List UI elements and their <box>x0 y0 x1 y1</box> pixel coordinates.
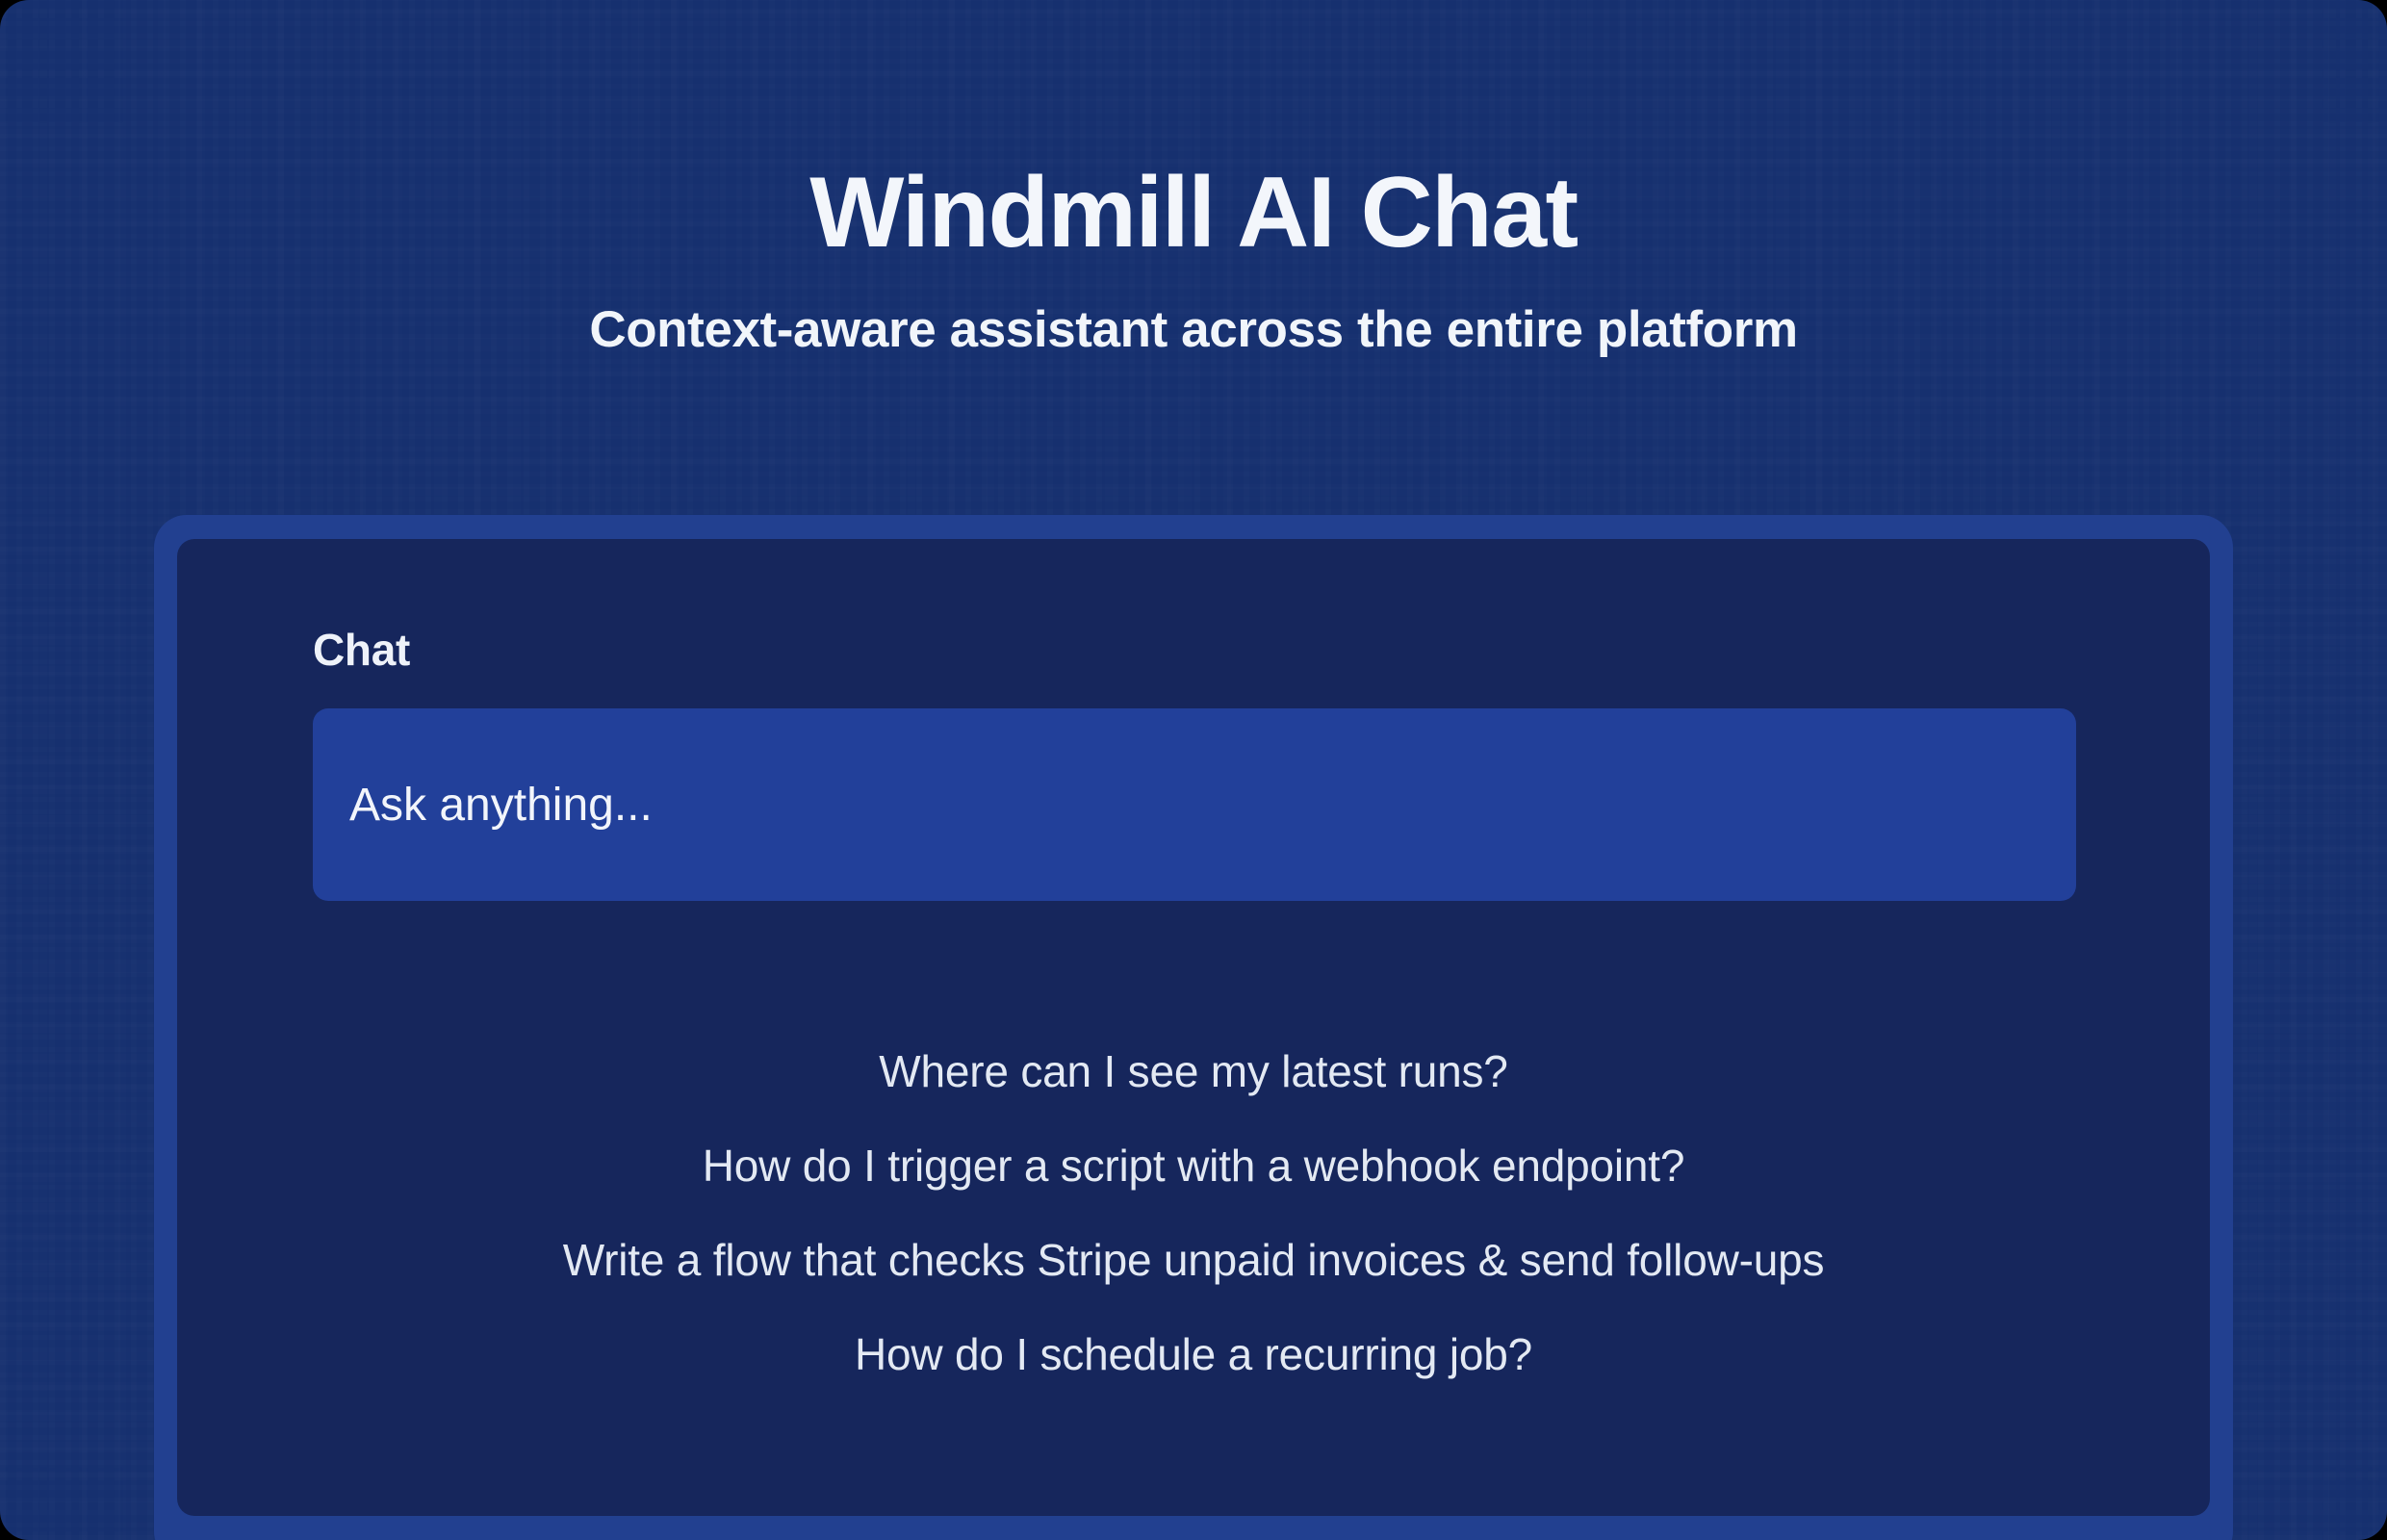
suggestion-list: Where can I see my latest runs? How do I… <box>177 1024 2210 1401</box>
hero-header: Windmill AI Chat Context-aware assistant… <box>0 0 2387 358</box>
chat-panel-frame: Chat Where can I see my latest runs? How… <box>154 515 2233 1540</box>
page-subtitle: Context-aware assistant across the entir… <box>0 302 2387 358</box>
chat-section-label: Chat <box>313 624 410 676</box>
app-root: Windmill AI Chat Context-aware assistant… <box>0 0 2387 1540</box>
page-title: Windmill AI Chat <box>0 162 2387 264</box>
suggestion-item[interactable]: Write a flow that checks Stripe unpaid i… <box>177 1213 2210 1307</box>
suggestion-item[interactable]: How do I schedule a recurring job? <box>177 1307 2210 1401</box>
chat-input[interactable] <box>313 708 2076 901</box>
suggestion-item[interactable]: How do I trigger a script with a webhook… <box>177 1118 2210 1213</box>
suggestion-item[interactable]: Where can I see my latest runs? <box>177 1024 2210 1118</box>
chat-panel: Chat Where can I see my latest runs? How… <box>177 539 2210 1516</box>
